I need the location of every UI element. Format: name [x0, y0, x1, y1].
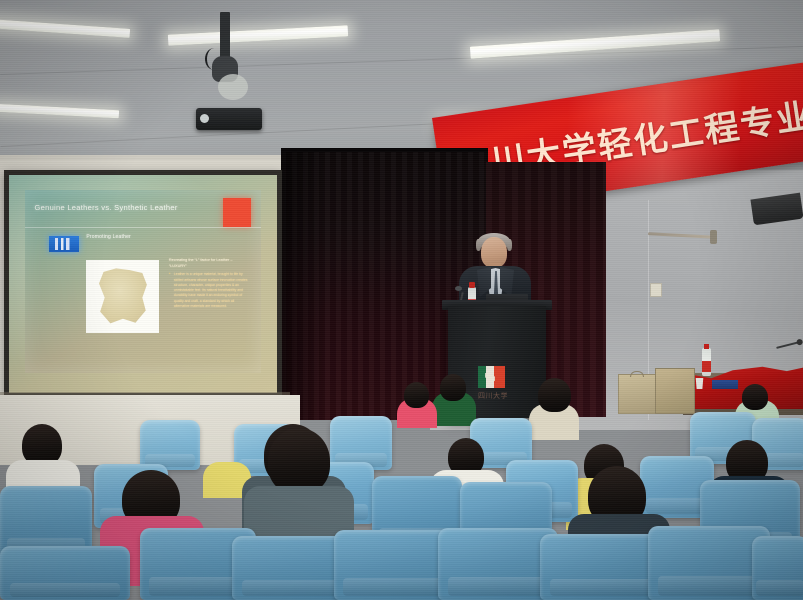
projector-lens — [200, 114, 209, 123]
wall-switch-box — [650, 283, 662, 297]
slide-leather-photo — [86, 260, 159, 333]
slide-title: Genuine Leathers vs. Synthetic Leather — [35, 203, 178, 212]
projector-knob — [218, 74, 248, 100]
emblem-red-band — [494, 366, 505, 388]
slide-subtitle: Promoting Leather — [86, 234, 131, 240]
slide-logo-icon — [49, 236, 80, 252]
audience-head — [538, 378, 571, 412]
ceiling-seam — [0, 46, 803, 75]
projection-screen-surface: Genuine Leathers vs. Synthetic Leather P… — [9, 175, 277, 393]
table-water-bottle — [702, 348, 711, 376]
podium-nameplate: 四川大学 — [472, 391, 514, 401]
seat-front[interactable] — [752, 536, 803, 600]
curtain-shadow — [281, 152, 327, 420]
ceiling-light — [470, 29, 720, 58]
ceiling-light — [0, 104, 119, 119]
slide-body-bullet: Leather is a unique material, brought to… — [169, 272, 249, 309]
cardboard-box — [655, 368, 695, 414]
audience-head — [440, 374, 466, 401]
table-bottle-label — [702, 361, 711, 372]
audience-head — [404, 382, 429, 408]
slide-accent-block — [223, 198, 251, 227]
slide-body-text: Recreating the “L” factor for Leather – … — [169, 258, 249, 309]
slide-title-rule — [25, 227, 261, 228]
seat[interactable] — [140, 420, 200, 470]
slide-body-header: Recreating the “L” factor for Leather – … — [169, 258, 249, 269]
wall-rod-end — [710, 230, 717, 244]
projection-screen-frame: Genuine Leathers vs. Synthetic Leather P… — [4, 170, 282, 398]
seat-front[interactable] — [0, 546, 130, 600]
emblem-white-band — [486, 366, 494, 388]
blue-box — [712, 380, 738, 389]
audience-head-front — [268, 428, 330, 494]
seat-front[interactable] — [540, 534, 664, 600]
podium-emblem-icon — [478, 366, 505, 388]
emblem-green-band — [478, 366, 486, 388]
podium-microphone-head — [455, 286, 462, 291]
seat-front[interactable] — [334, 530, 452, 600]
lecture-hall-photo: 四川大学轻化工程专业 “卓越 Genuine Leathers vs. Synt… — [0, 0, 803, 600]
leather-hide-shape — [94, 267, 151, 326]
box-handle — [630, 371, 644, 377]
ceiling-light — [0, 19, 130, 38]
presentation-slide: Genuine Leathers vs. Synthetic Leather P… — [25, 190, 261, 373]
ceiling-light — [168, 25, 348, 45]
audience-head — [742, 384, 768, 410]
